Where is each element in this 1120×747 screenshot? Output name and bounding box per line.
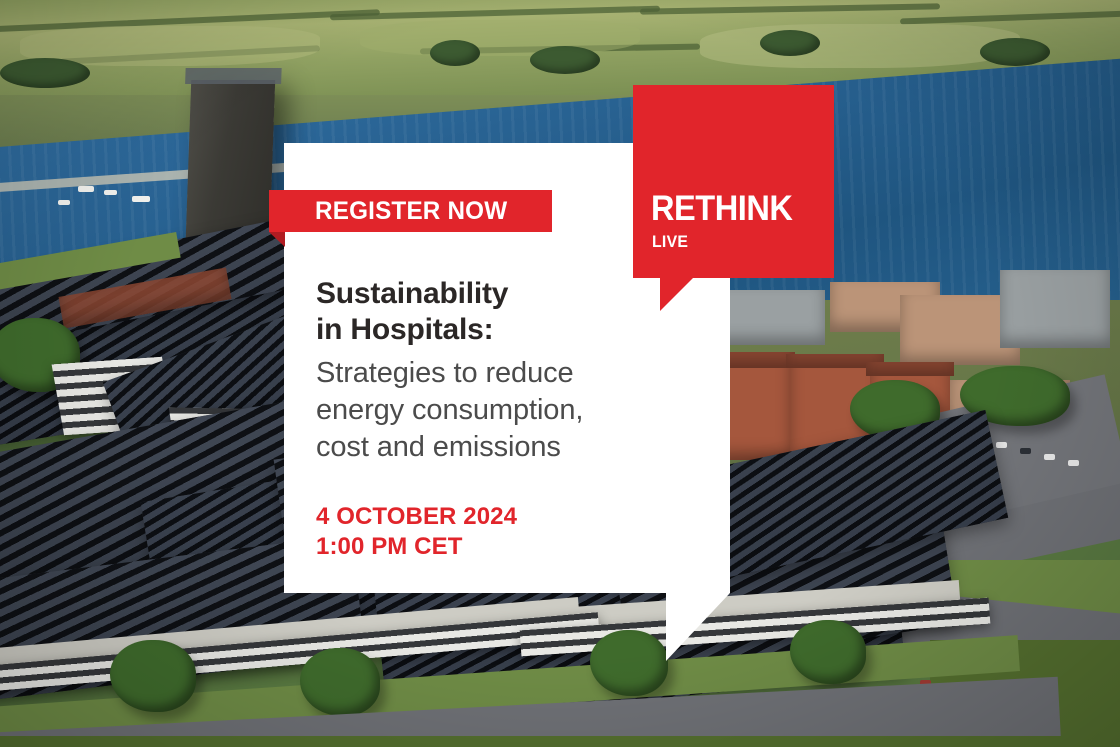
event-datetime: 4 OCTOBER 2024 1:00 PM CET: [316, 502, 716, 562]
headline: Sustainability in Hospitals:: [316, 276, 716, 349]
register-now-button[interactable]: REGISTER NOW: [269, 190, 552, 232]
subheadline-line-2: energy consumption,: [316, 392, 716, 429]
brand-name: RETHINK: [651, 191, 792, 226]
card-text-block: Sustainability in Hospitals: Strategies …: [316, 276, 716, 562]
subheadline-line-3: cost and emissions: [316, 429, 716, 466]
event-time: 1:00 PM CET: [316, 532, 716, 562]
event-date: 4 OCTOBER 2024: [316, 502, 716, 532]
content-card-tail: [666, 593, 730, 661]
headline-line-2: in Hospitals:: [316, 312, 716, 348]
subheadline: Strategies to reduce energy consumption,…: [316, 355, 716, 466]
register-now-label: REGISTER NOW: [315, 197, 507, 226]
rethink-live-logo-bubble: RETHINK LIVE: [633, 85, 834, 278]
headline-line-1: Sustainability: [316, 276, 716, 312]
badge-tail: [269, 232, 285, 247]
brand-sub: LIVE: [652, 233, 688, 250]
promo-banner: RETHINK LIVE REGISTER NOW Sustainability…: [0, 0, 1120, 747]
subheadline-line-1: Strategies to reduce: [316, 355, 716, 392]
